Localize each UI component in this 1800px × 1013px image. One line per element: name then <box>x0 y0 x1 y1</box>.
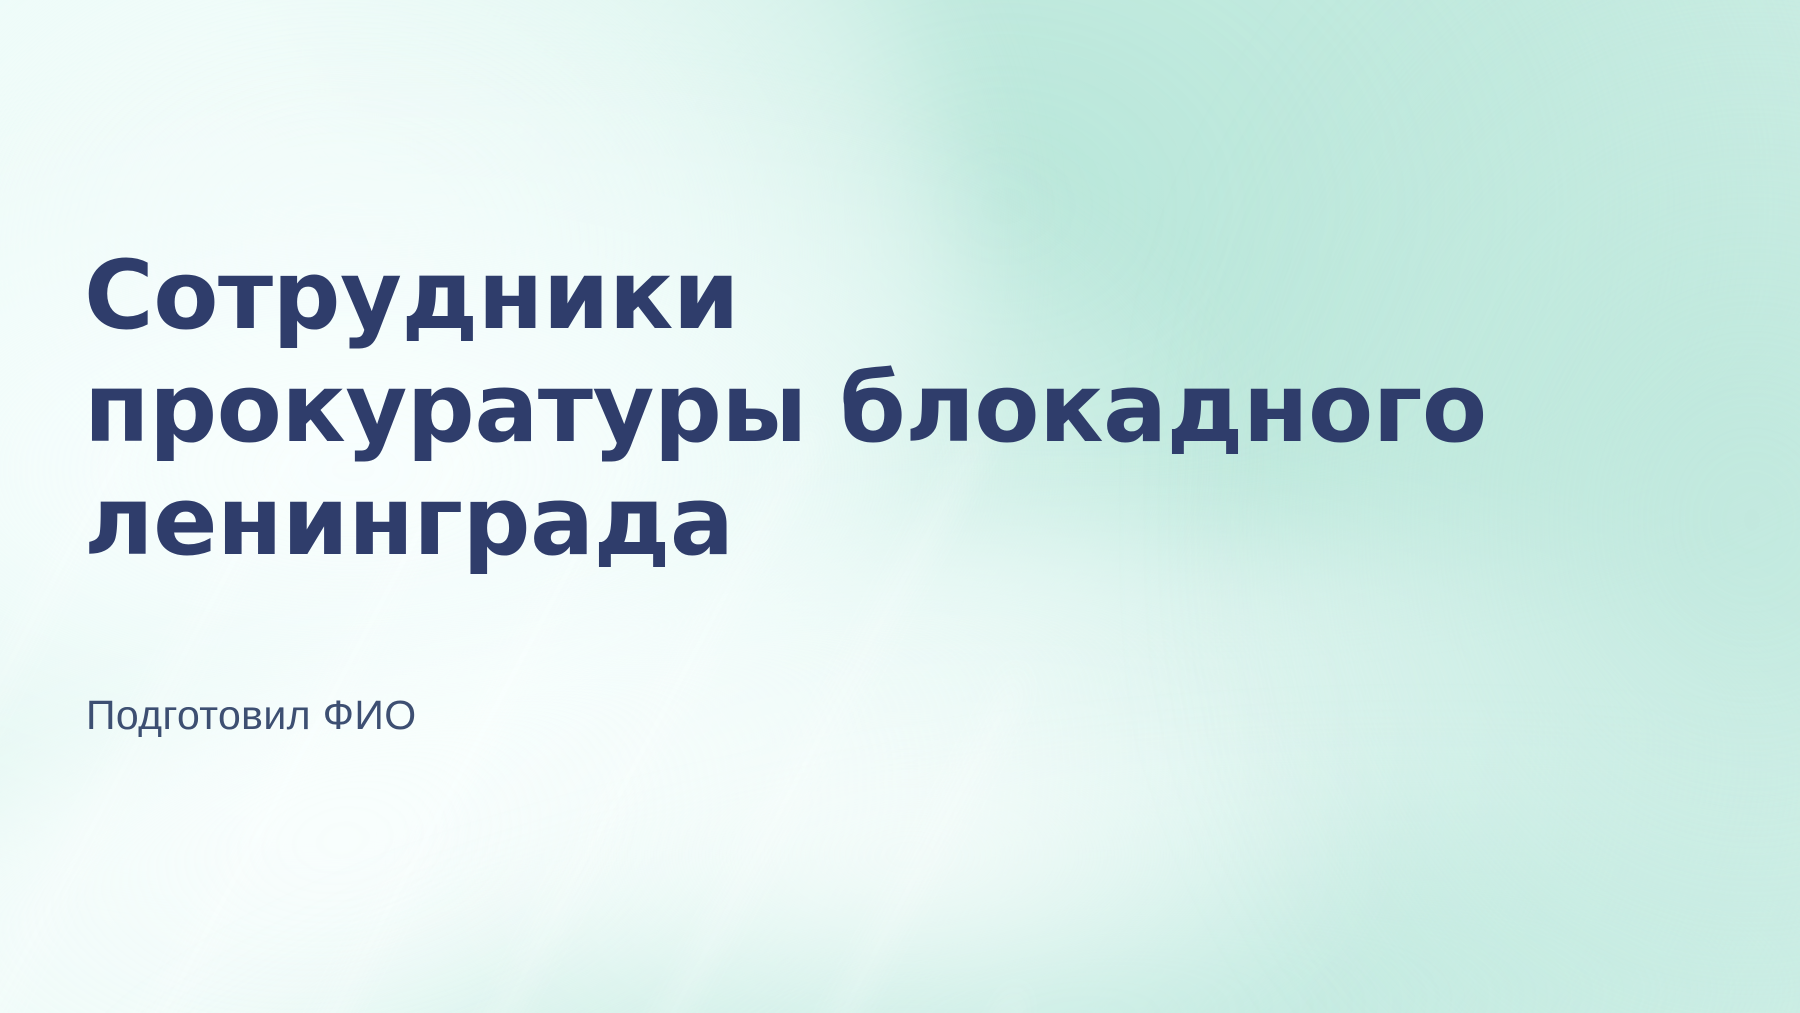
title-slide: Сотрудники прокуратуры блокадного ленинг… <box>0 0 1800 1013</box>
slide-subtitle-author: Подготовил ФИО <box>86 690 417 740</box>
slide-title: Сотрудники прокуратуры блокадного ленинг… <box>84 240 1724 579</box>
slide-content: Сотрудники прокуратуры блокадного ленинг… <box>84 0 1744 1013</box>
